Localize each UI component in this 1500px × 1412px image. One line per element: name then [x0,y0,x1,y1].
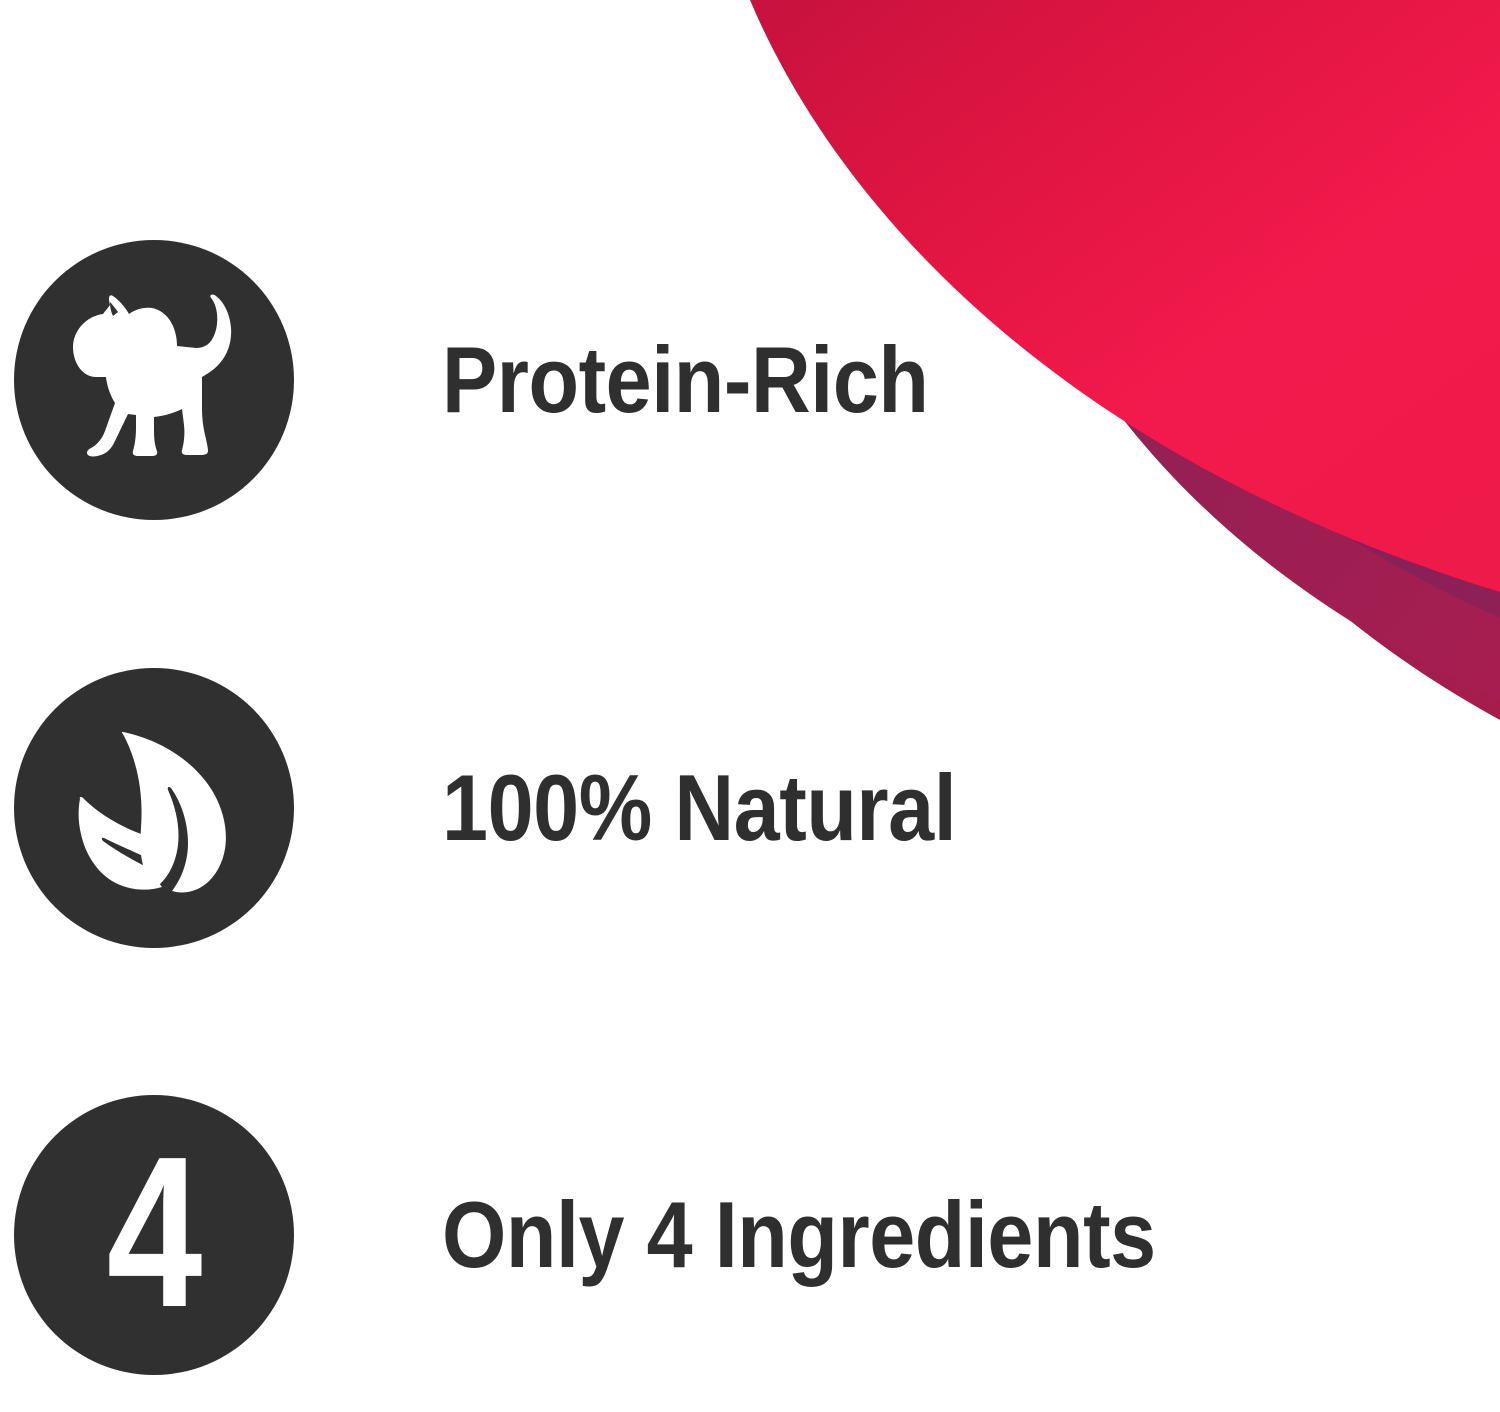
feature-label-protein-rich: Protein-Rich [442,333,928,427]
cat-icon [56,291,252,469]
badge-protein-rich [14,240,294,520]
number-four-icon: 4 [107,1124,201,1339]
feature-row: 4 Only 4 Ingredients [0,1095,1500,1375]
badge-ingredients: 4 [14,1095,294,1375]
feature-row: Protein-Rich [0,240,1500,520]
feature-row: 100% Natural [0,668,1500,948]
badge-natural [14,668,294,948]
leaf-icon [54,710,254,906]
feature-label-ingredients: Only 4 Ingredients [442,1188,1156,1282]
product-feature-infographic: Protein-Rich 100% Natural 4 Only 4 Ingre… [0,0,1500,1412]
feature-label-natural: 100% Natural [442,761,956,855]
